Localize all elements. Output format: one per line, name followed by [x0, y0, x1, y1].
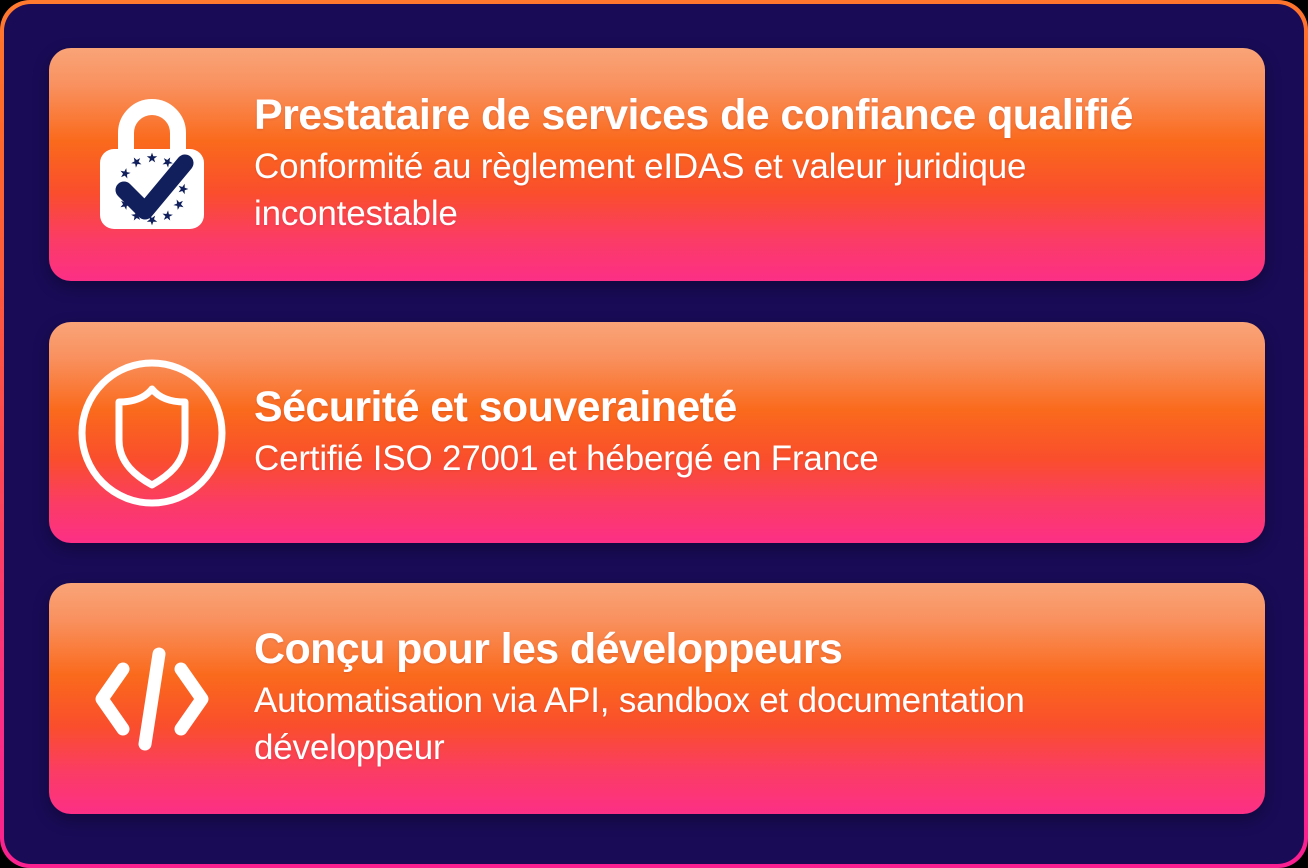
feature-card-text: Conçu pour les développeurs Automatisati…: [254, 625, 1265, 771]
feature-card[interactable]: Prestataire de services de confiance qua…: [49, 48, 1265, 281]
feature-card-text: Prestataire de services de confiance qua…: [254, 91, 1265, 237]
feature-card-icon-slot: [49, 322, 254, 543]
feature-card-subtitle: Automatisation via API, sandbox et docum…: [254, 678, 1214, 771]
feature-card-icon-slot: [49, 583, 254, 814]
feature-panel: Prestataire de services de confiance qua…: [4, 4, 1304, 864]
code-brackets-icon: [90, 641, 214, 757]
feature-card-text: Sécurité et souveraineté Certifié ISO 27…: [254, 383, 1265, 483]
feature-card-title: Prestataire de services de confiance qua…: [254, 91, 1134, 140]
feature-card-list: Prestataire de services de confiance qua…: [49, 48, 1265, 814]
shield-circle-icon: [74, 355, 230, 511]
feature-card-subtitle: Conformité au règlement eIDAS et valeur …: [254, 144, 1159, 237]
feature-panel-frame: Prestataire de services de confiance qua…: [0, 0, 1308, 868]
feature-card-icon-slot: [49, 48, 254, 281]
eidas-padlock-icon: [93, 97, 211, 233]
feature-card-title: Conçu pour les développeurs: [254, 625, 1217, 674]
feature-card-subtitle: Certifié ISO 27001 et hébergé en France: [254, 436, 1217, 483]
feature-card[interactable]: Conçu pour les développeurs Automatisati…: [49, 583, 1265, 814]
feature-card[interactable]: Sécurité et souveraineté Certifié ISO 27…: [49, 322, 1265, 543]
feature-card-title: Sécurité et souveraineté: [254, 383, 1217, 432]
